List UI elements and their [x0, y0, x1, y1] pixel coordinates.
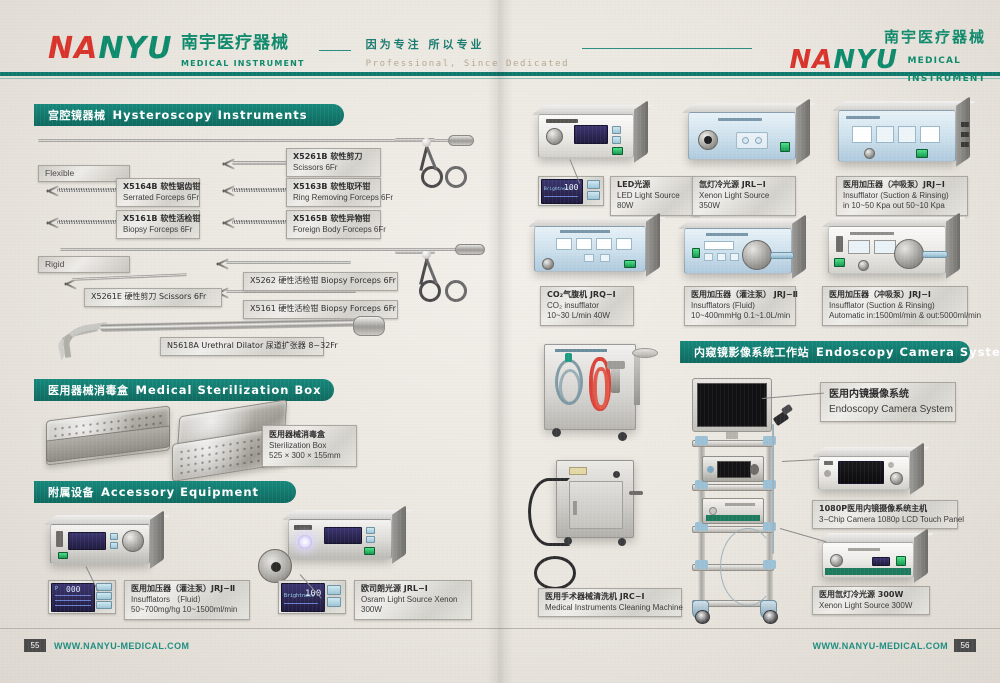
section-title-en: Hysteroscopy Instruments: [113, 108, 308, 122]
item-label-X5261E: X5261E 硬性剪刀 Scissors 6Fr: [84, 288, 222, 307]
caster-icon: [564, 537, 572, 545]
item-name-cn: 软性异物钳: [330, 214, 370, 223]
device-name-en: Insufflators (Fluid): [691, 301, 789, 312]
camera-system-name-cn: 医用内镜摄像系统: [829, 388, 947, 401]
slogan-cn: 因为专注 所以专业: [366, 38, 485, 51]
section-title-en: Accessory Equipment: [101, 485, 259, 499]
lcd-thumbnail-led: Brightness 100: [538, 176, 604, 206]
item-name-en: Foreign Body Forceps 6Fr: [293, 225, 374, 236]
accessory-label-light-source: 欧司朗光源 JRL−Ⅰ Osram Light Source Xenon 300…: [354, 580, 472, 620]
label-co2-insufflator: CO₂气腹机 JRQ−Ⅰ CO₂ insufflator 10~30 L/min…: [540, 286, 634, 326]
group-tag-flexible-label: Flexible: [45, 168, 123, 179]
website-url-right: WWW.NANYU-MEDICAL.COM: [813, 641, 948, 651]
cleaning-hose: [528, 478, 570, 546]
rigid-scope-handle: [455, 244, 485, 255]
item-code: X5163B: [293, 182, 328, 191]
lcd-value: 100: [564, 183, 578, 194]
brand-wordmark-right: NANYU: [789, 47, 898, 73]
item-text: N5618A Urethral Dilator 尿道扩张器 8~32Fr: [167, 341, 317, 352]
device-name-cn: 氙灯冷光源 JRL−Ⅰ: [699, 180, 789, 191]
item-code: X5261B: [293, 152, 328, 161]
section-title-cn: 宫腔镜器械: [48, 107, 106, 123]
device-insufflator-fluid-image: [50, 524, 150, 564]
device-osram-light-source-image: [288, 519, 392, 559]
rigid-scissors-shaft: [72, 273, 187, 281]
label-cleaning-machine: 医用手术器械清洗机 JRC−Ⅰ Medical Instruments Clea…: [538, 588, 682, 617]
divider-dash-left: [319, 50, 351, 51]
label-xenon-light-source: 氙灯冷光源 JRL−Ⅰ Xenon Light Source 350W: [692, 176, 796, 216]
label-1080p-camera: 1080P医用内镜摄像系统主机 3−Chip Camera 1080p LCD …: [812, 500, 958, 529]
device-spec: Automatic in:1500ml/min & out:5000ml/min: [829, 311, 961, 322]
label-camera-system-main: 医用内镜摄像系统 Endoscopy Camera System: [820, 382, 956, 422]
endoscopy-cart-image: [690, 378, 800, 623]
item-label-X5165B: X5165B 软性异物钳 Foreign Body Forceps 6Fr: [286, 210, 381, 239]
accessory-name-cn: 医用加压器（灌注泵）JRJ−Ⅱ: [131, 584, 243, 595]
accessory-spec: 50~700mg/hg 10~1500ml/min: [131, 605, 243, 616]
forceps-shaft: [232, 188, 290, 192]
item-name-en: Biopsy Forceps 6Fr: [123, 225, 193, 236]
device-xenon-light-source-image: [688, 112, 796, 160]
cleaning-hose-coil: [534, 556, 576, 590]
device-led-light-source-image: [538, 114, 634, 158]
device-name-cn: 医用加压器（冲吸泵）JRJ−Ⅰ: [843, 180, 961, 191]
flexible-hysteroscope-shaft: [38, 139, 453, 142]
label-insufflator-fluid-right: 医用加压器（灌注泵） JRJ−Ⅱ Insufflators (Fluid) 10…: [684, 286, 796, 326]
device-spec: in 10~50 Kpa out 50~10 Kpa: [843, 201, 961, 212]
rigid-forceps-shaft: [226, 261, 351, 264]
slogan-en: Professional, Since Dedicated: [366, 59, 570, 69]
brand-subtitle: MEDICAL INSTRUMENT: [181, 59, 305, 68]
label-xenon-300w: 医用氙灯冷光源 300W Xenon Light Source 300W: [812, 586, 930, 615]
sterilization-size: 525 × 300 × 155mm: [269, 451, 350, 462]
device-name-en: Medical Instruments Cleaning Machine: [545, 603, 675, 614]
page-number-left: 55: [24, 639, 46, 652]
label-insufflator-suction: 医用加压器（冲吸泵）JRJ−Ⅰ Insufflator (Suction & R…: [836, 176, 968, 216]
item-name-cn: 软性剪刀: [330, 152, 362, 161]
item-code: X5164B: [123, 182, 158, 191]
item-text: X5262 硬性活检钳 Biopsy Forceps 6Fr: [250, 276, 391, 287]
brand-logo-left: NANYU 南宇医疗器械 MEDICAL INSTRUMENT 因为专注 所以专…: [48, 34, 752, 71]
page-number-right: 56: [954, 639, 976, 652]
device-1080p-camera-image: [818, 456, 910, 490]
item-name-cn: 软性取环钳: [330, 182, 370, 191]
cleaning-machine-upper-image: [544, 344, 636, 430]
label-led-light-source: LED光源 LED Light Source 80W: [610, 176, 700, 216]
accessory-name-en: Osram Light Source Xenon: [361, 595, 465, 606]
brand-logo-right: 南宇医疗器械 NANYU MEDICAL INSTRUMENT: [789, 30, 986, 86]
device-name-cn: 医用手术器械清洗机 JRC−Ⅰ: [545, 592, 675, 603]
cleaning-machine-tray: [632, 348, 658, 358]
scissors-shaft: [232, 161, 287, 165]
device-name-en: Insufflator (Suction & Rinsing): [843, 191, 961, 202]
item-name-cn: 软性活检钳: [160, 214, 200, 223]
item-name-cn: 软性锯齿钳: [160, 182, 200, 191]
section-title-cn: 医用器械消毒盒: [48, 382, 129, 398]
lcd-label: P: [55, 586, 58, 593]
sterilization-name-en: Sterilization Box: [269, 441, 350, 452]
section-header-sterilization: 医用器械消毒盒 Medical Sterilization Box: [34, 379, 334, 401]
item-label-X5164B: X5164B 软性锯齿钳 Serrated Forceps 6Fr: [116, 178, 200, 207]
lcd-thumbnail-light-source: Brightness 100: [278, 580, 346, 614]
device-name-cn: LED光源: [617, 180, 693, 191]
accessory-label-insufflator: 医用加压器（灌注泵）JRJ−Ⅱ Insufflators （Fluid） 50~…: [124, 580, 250, 620]
sterilization-box-label: 医用器械消毒盒 Sterilization Box 525 × 300 × 15…: [262, 425, 357, 467]
sterilization-name-cn: 医用器械消毒盒: [269, 430, 350, 441]
section-header-accessory: 附属设备 Accessory Equipment: [34, 481, 296, 503]
accessory-name-cn: 欧司朗光源 JRL−Ⅰ: [361, 584, 465, 595]
brand-name-cn: 南宇医疗器械: [181, 33, 289, 53]
website-url-left: WWW.NANYU-MEDICAL.COM: [54, 641, 189, 651]
group-tag-rigid: Rigid: [38, 256, 130, 273]
section-header-camera-system: 内窥镜影像系统工作站 Endoscopy Camera System: [680, 341, 970, 363]
group-tag-rigid-label: Rigid: [45, 259, 123, 270]
book-spine-shadow: [487, 0, 513, 683]
accessory-spec: 300W: [361, 605, 465, 616]
item-code: X5165B: [293, 214, 328, 223]
item-name-en: Serrated Forceps 6Fr: [123, 193, 193, 204]
device-insufflator-automatic-image: [828, 226, 946, 274]
item-label-X5262: X5262 硬性活检钳 Biopsy Forceps 6Fr: [243, 272, 398, 291]
part-name-cn: 医用氙灯冷光源 300W: [819, 590, 923, 601]
brand-wordmark: NANYU: [48, 34, 173, 64]
device-xenon-300w-image: [822, 542, 914, 578]
lcd-thumbnail-insufflator: P 000: [48, 580, 116, 614]
brand-subtitle-line2: INSTRUMENT: [907, 74, 986, 84]
item-name-en: Scissors 6Fr: [293, 163, 374, 174]
item-name-en: Ring Removing Forceps 6Fr: [293, 193, 374, 204]
rigid-hysteroscope-shaft: [60, 248, 460, 251]
part-name-en: 3−Chip Camera 1080p LCD Touch Panel: [819, 515, 951, 526]
divider-dash-right: [582, 48, 752, 49]
light-port-disc: [258, 549, 292, 583]
brand-name-cn-right: 南宇医疗器械: [789, 30, 986, 45]
forceps-shaft: [232, 220, 290, 224]
item-label-N5618A: N5618A Urethral Dilator 尿道扩张器 8~32Fr: [160, 337, 324, 356]
device-insufflator-fluid-right-image: [684, 228, 792, 274]
device-name-en: Insufflator (Suction & Rinsing): [829, 301, 961, 312]
device-co2-insufflator-image: [534, 226, 646, 272]
caster-icon: [552, 428, 561, 437]
device-insufflator-suction-image: [838, 110, 956, 162]
hysteroscope-handle: [448, 135, 474, 146]
device-name-cn: 医用加压器（冲吸泵）JRJ−Ⅰ: [829, 290, 961, 301]
section-title-cn: 内窥镜影像系统工作站: [694, 344, 809, 360]
brand-subtitle-line1: MEDICAL: [907, 56, 961, 66]
device-name-cn: CO₂气腹机 JRQ−Ⅰ: [547, 290, 627, 301]
lcd-value: 000: [66, 585, 80, 596]
section-title-cn: 附属设备: [48, 484, 94, 500]
footer-divider: [0, 628, 1000, 629]
section-title-en: Endoscopy Camera System: [816, 345, 1000, 359]
caster-icon: [618, 432, 627, 441]
catalog-page-spread: NANYU 南宇医疗器械 MEDICAL INSTRUMENT 因为专注 所以专…: [0, 0, 1000, 683]
device-spec: 10~30 L/min 40W: [547, 311, 627, 322]
accessory-name-en: Insufflators （Fluid）: [131, 595, 243, 606]
camera-system-name-en: Endoscopy Camera System: [829, 403, 947, 416]
device-spec: 350W: [699, 201, 789, 212]
item-text: X5261E 硬性剪刀 Scissors 6Fr: [91, 292, 215, 303]
device-name-cn: 医用加压器（灌注泵） JRJ−Ⅱ: [691, 290, 789, 301]
label-insufflator-automatic: 医用加压器（冲吸泵）JRJ−Ⅰ Insufflator (Suction & R…: [822, 286, 968, 326]
section-header-hysteroscopy: 宫腔镜器械 Hysteroscopy Instruments: [34, 104, 344, 126]
device-name-en: CO₂ insufflator: [547, 301, 627, 312]
part-name-en: Xenon Light Source 300W: [819, 601, 923, 612]
device-name-en: LED Light Source: [617, 191, 693, 202]
item-label-X5261B: X5261B 软性剪刀 Scissors 6Fr: [286, 148, 381, 177]
page-header: NANYU 南宇医疗器械 MEDICAL INSTRUMENT 因为专注 所以专…: [0, 0, 1000, 78]
item-label-X5163B: X5163B 软性取环钳 Ring Removing Forceps 6Fr: [286, 178, 381, 207]
caster-icon: [618, 538, 626, 546]
device-spec: 80W: [617, 201, 693, 212]
part-name-cn: 1080P医用内镜摄像系统主机: [819, 504, 951, 515]
device-spec: 10~400mmHg 0.1~1.0L/min: [691, 311, 789, 322]
section-title-en: Medical Sterilization Box: [136, 383, 322, 397]
item-label-X5161B: X5161B 软性活检钳 Biopsy Forceps 6Fr: [116, 210, 200, 239]
device-name-en: Xenon Light Source: [699, 191, 789, 202]
item-code: X5161B: [123, 214, 158, 223]
